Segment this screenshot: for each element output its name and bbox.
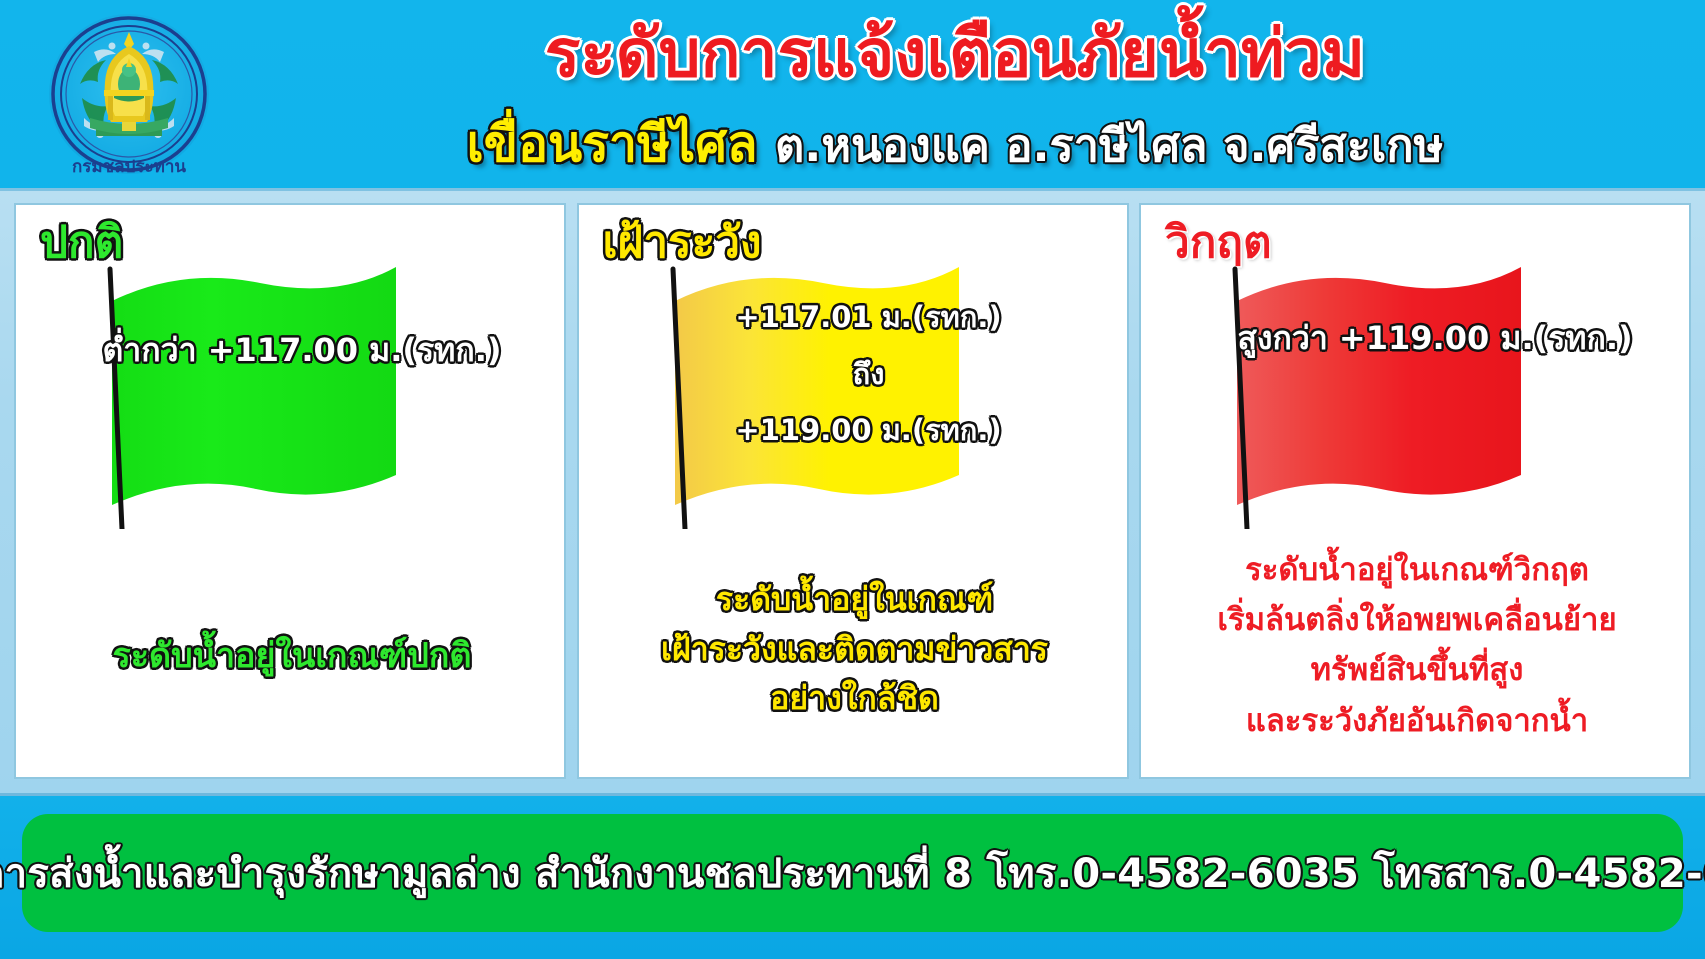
panel-message-watch: ระดับน้ำอยู่ในเกณฑ์ เฝ้าระวังและติดตามข่…	[589, 575, 1121, 724]
subtitle-dam-name: เขื่อนราษีไศล	[467, 115, 758, 173]
flag-caption-normal: ต่ำกว่า +117.00 ม.(รทก.)	[52, 325, 552, 376]
page-subtitle: เขื่อนราษีไศล ต.หนองแค อ.ราษีไศล จ.ศรีสะ…	[230, 118, 1680, 171]
panel-message-normal: ระดับน้ำอยู่ในเกณฑ์ปกติ	[26, 635, 558, 678]
warning-level-panels: ปกติ ต่ำกว่า +117.00 ม.(รทก.)	[0, 188, 1705, 796]
flood-warning-poster: กรมชลประทาน ระดับการแจ้งเตือนภัยน้ำท่วม …	[0, 0, 1705, 959]
svg-text:กรมชลประทาน: กรมชลประทาน	[72, 157, 186, 177]
page-title: ระดับการแจ้งเตือนภัยน้ำท่วม	[230, 20, 1680, 87]
poster-header: กรมชลประทาน ระดับการแจ้งเตือนภัยน้ำท่วม …	[0, 0, 1705, 192]
footer-contact-bar: โครงการส่งน้ำและบำรุงรักษามูลล่าง สำนักง…	[22, 814, 1683, 932]
panel-message-critical: ระดับน้ำอยู่ในเกณฑ์วิกฤต เริ่มล้นตลิ่งให…	[1151, 545, 1683, 746]
flag-red-icon	[1141, 239, 1691, 529]
footer-text: โครงการส่งน้ำและบำรุงรักษามูลล่าง สำนักง…	[0, 841, 1705, 905]
status-badge-normal: ปกติ	[40, 221, 123, 265]
flag-caption-critical: สูงกว่า +119.00 ม.(รทก.)	[1185, 313, 1685, 364]
subtitle-location: ต.หนองแค อ.ราษีไศล จ.ศรีสะเกษ	[775, 119, 1443, 172]
flag-caption-watch: +117.01 ม.(รทก.) ถึง +119.00 ม.(รทก.)	[639, 289, 1099, 459]
status-badge-critical: วิกฤต	[1165, 221, 1272, 265]
panel-critical: วิกฤต สูงกว่า +119.00	[1139, 203, 1691, 779]
royal-irrigation-department-emblem-icon: กรมชลประทาน	[38, 6, 220, 188]
flag-green-icon	[16, 239, 566, 529]
panel-watch: เฝ้าระวัง +117.01 ม.(ร	[577, 203, 1129, 779]
status-badge-watch: เฝ้าระวัง	[603, 221, 762, 265]
panel-normal: ปกติ ต่ำกว่า +117.00 ม.(รทก.)	[14, 203, 566, 779]
